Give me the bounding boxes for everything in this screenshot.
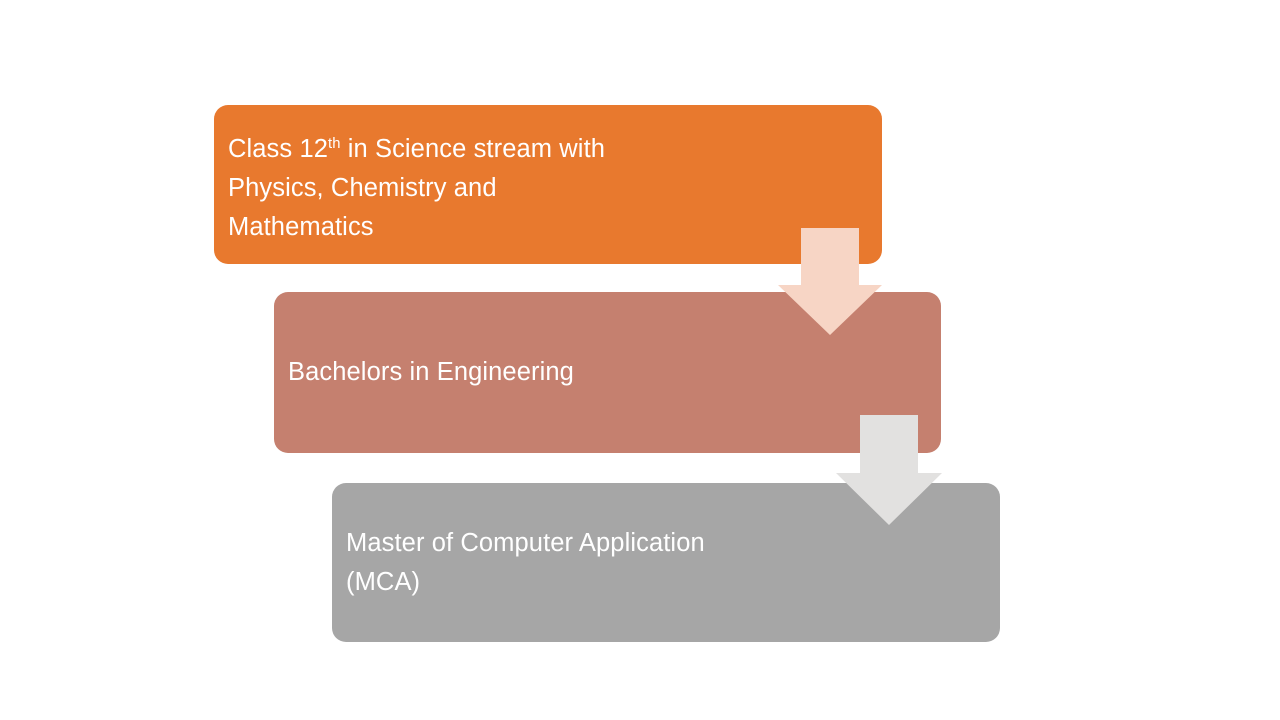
- flow-step-mca-label: Master of Computer Application (MCA): [346, 524, 705, 602]
- slide-canvas: Class 12th in Science stream with Physic…: [0, 0, 1280, 720]
- down-arrow-icon-bachelors-to-mca: [836, 415, 942, 525]
- flow-step-highschool-label: Class 12th in Science stream with Physic…: [228, 130, 605, 246]
- flow-step-highschool-label-part1: Class 12: [228, 135, 328, 163]
- flow-step-bachelors-label: Bachelors in Engineering: [288, 353, 574, 392]
- down-arrow-icon-highschool-to-bachelors: [778, 228, 882, 335]
- ordinal-superscript: th: [328, 136, 341, 152]
